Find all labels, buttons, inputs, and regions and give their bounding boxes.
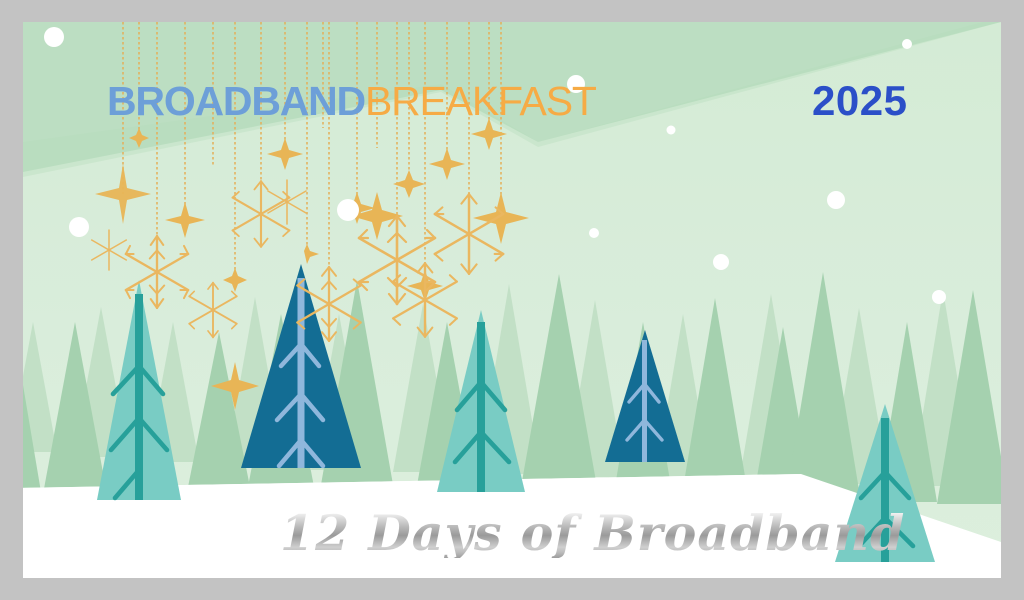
snow-dot [44,27,64,47]
snow-dot [69,217,89,237]
snow-dot [667,126,676,135]
page-title: 12 Days of Broadband [280,509,905,558]
snow-dot [827,191,845,209]
brand-logo[interactable]: BROADBANDBREAKFAST [107,81,596,122]
snow-dot [932,290,946,304]
logo-word-breakfast: BREAKFAST [365,78,596,124]
snow-dot [337,199,359,221]
poster-canvas: BROADBANDBREAKFAST 2025 12 Days of Broad… [0,0,1024,600]
snow-dot [713,254,729,270]
poster-inner-frame: BROADBANDBREAKFAST 2025 12 Days of Broad… [23,22,1001,578]
snow-dot [902,39,912,49]
snow-dot [589,228,599,238]
logo-word-broadband: BROADBAND [107,78,365,124]
year-label: 2025 [812,80,907,122]
